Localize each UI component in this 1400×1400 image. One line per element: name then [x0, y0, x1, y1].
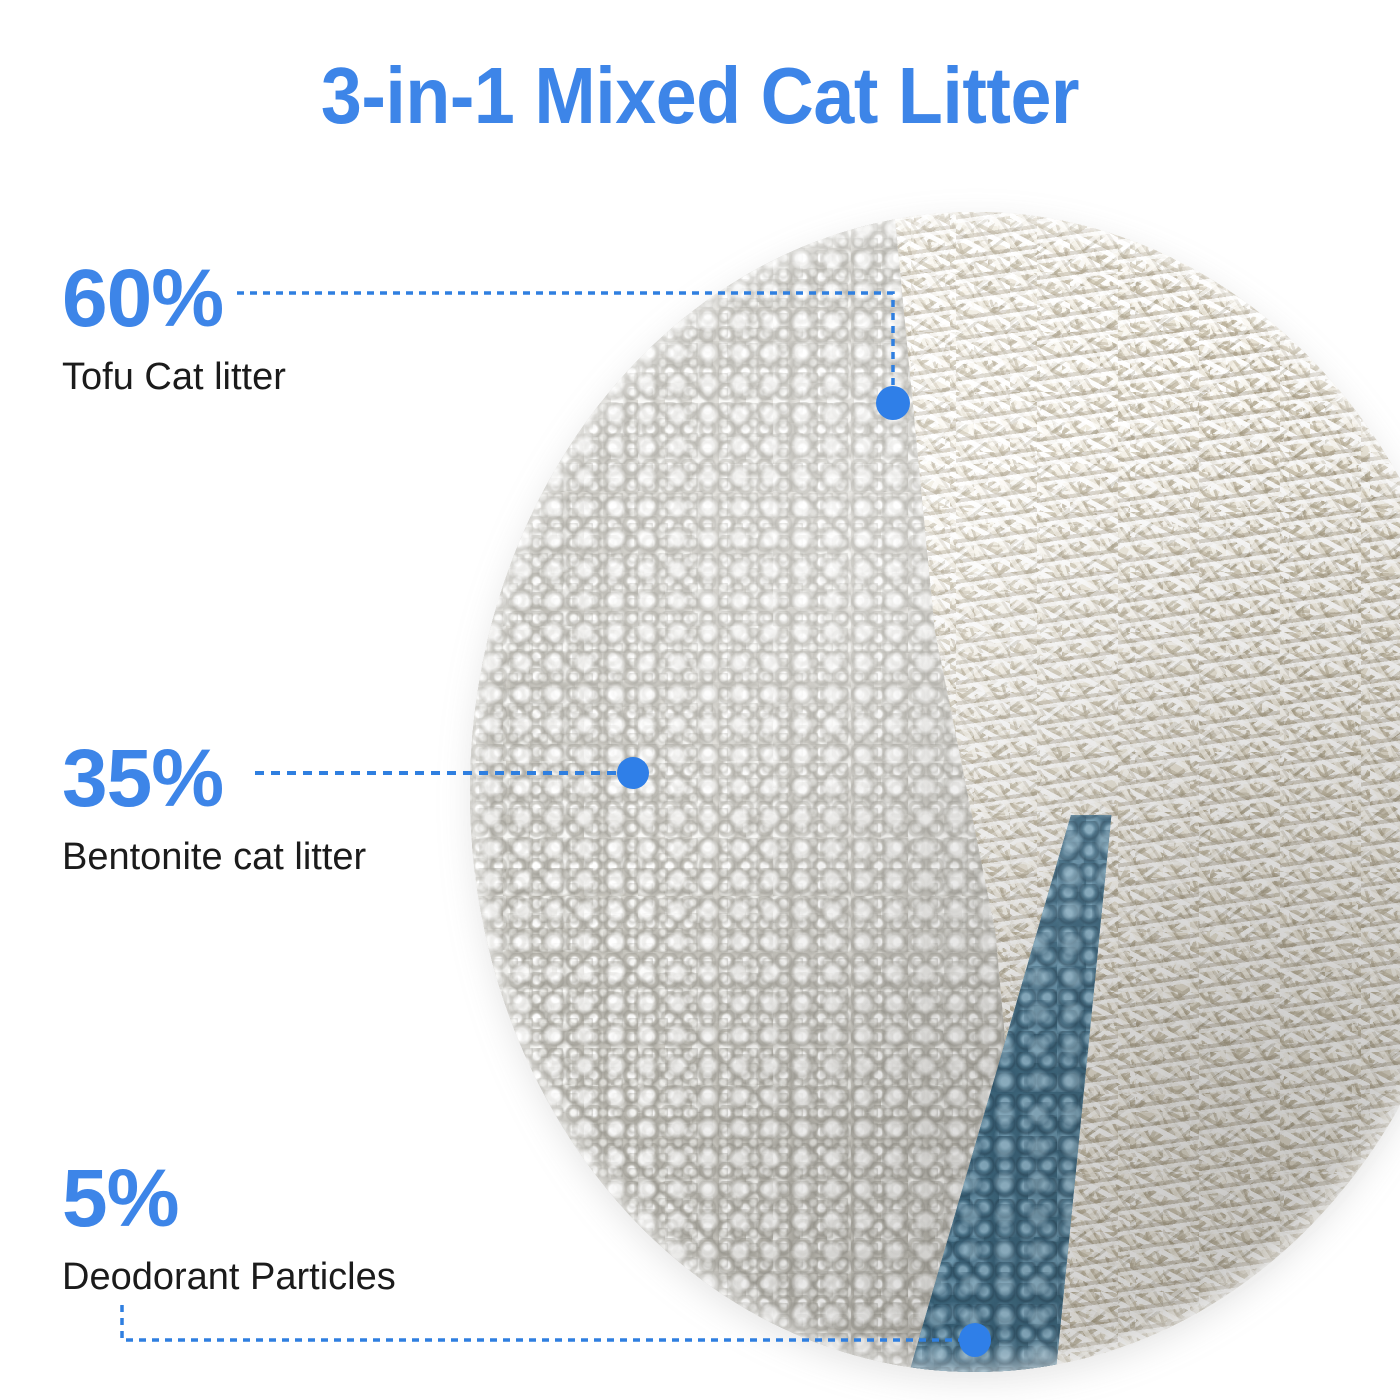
callout-bentonite-label: Bentonite cat litter — [62, 836, 366, 880]
marker-dot-deodorant — [959, 1323, 991, 1357]
leader-line-deodorant — [122, 1305, 962, 1340]
callout-deodorant-label: Deodorant Particles — [62, 1256, 396, 1300]
callout-deodorant-percent: 5% — [62, 1158, 396, 1240]
marker-dot-tofu — [876, 386, 910, 420]
callout-bentonite-percent: 35% — [62, 738, 366, 820]
leader-line-tofu — [237, 293, 893, 392]
callout-tofu: 60% Tofu Cat litter — [62, 258, 286, 400]
marker-dot-bentonite — [617, 757, 649, 789]
callout-tofu-percent: 60% — [62, 258, 286, 340]
callout-tofu-label: Tofu Cat litter — [62, 356, 286, 400]
callout-deodorant: 5% Deodorant Particles — [62, 1158, 396, 1300]
callout-bentonite: 35% Bentonite cat litter — [62, 738, 366, 880]
